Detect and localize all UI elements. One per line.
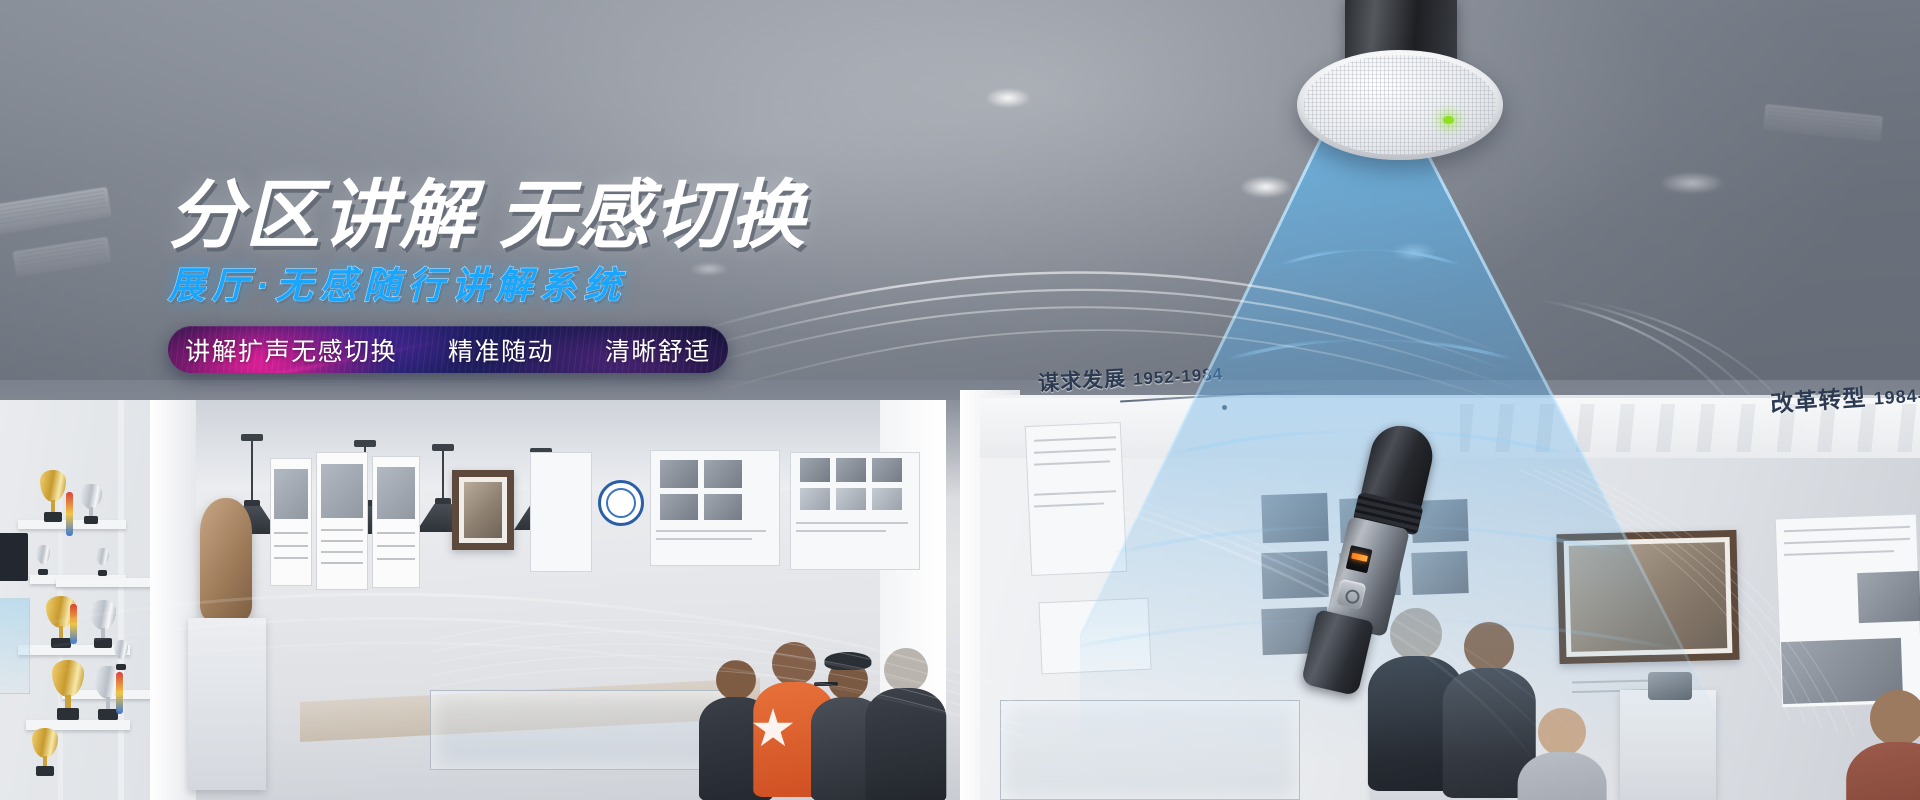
mic-battery-tail xyxy=(1301,609,1375,696)
recessed-light xyxy=(1660,172,1724,194)
promo-banner: 谋求发展 1952-1984 改革转型 1984-2010 xyxy=(0,0,1920,800)
banner-title: 分区讲解 无感切换 xyxy=(168,178,928,253)
history-text-panel xyxy=(1038,598,1151,675)
trophy xyxy=(80,484,102,524)
trophy xyxy=(52,660,84,720)
exhibit-photo xyxy=(660,460,698,488)
trophy xyxy=(32,728,58,776)
feature-list: 讲解扩声无感切换 精准随动 清晰舒适 xyxy=(168,332,728,368)
recessed-light xyxy=(985,88,1031,108)
exhibit-photo xyxy=(872,458,902,482)
exhibit-photo xyxy=(660,494,698,520)
feature-item-3: 清晰舒适 xyxy=(605,332,711,368)
recessed-light xyxy=(1392,243,1436,261)
figurine xyxy=(96,548,109,576)
panel-text-line xyxy=(656,538,752,540)
visitor xyxy=(1870,690,1920,746)
exhibit-photo xyxy=(800,488,830,510)
wall-heading-2-name: 改革转型 xyxy=(1769,384,1867,417)
school-emblem xyxy=(598,480,644,526)
exhibit-poster xyxy=(316,452,368,590)
display-pedestal xyxy=(188,618,266,790)
panel-text-line xyxy=(656,530,766,532)
recessed-light xyxy=(1240,176,1292,198)
wall-heading-2-years: 1984-2010 xyxy=(1873,382,1920,409)
speaker-grille-rim xyxy=(1297,50,1503,160)
display-pedestal xyxy=(1620,690,1716,800)
speaker-status-led xyxy=(1443,116,1454,124)
exhibit-panel xyxy=(530,452,592,572)
display-glass-case xyxy=(1000,700,1300,800)
trophy xyxy=(40,470,66,522)
wall-monitor xyxy=(0,533,28,581)
panel-text-line xyxy=(796,530,886,532)
speaker-mesh-grille xyxy=(1304,55,1496,155)
feature-item-1: 讲解扩声无感切换 xyxy=(185,332,397,368)
cabinet-divider xyxy=(118,400,124,800)
exhibit-photo xyxy=(836,458,866,482)
visitor xyxy=(1464,622,1514,672)
glass-railing xyxy=(0,598,30,694)
exhibit-machine xyxy=(1648,672,1692,700)
trophy-ribbon xyxy=(70,604,77,644)
exhibit-poster xyxy=(270,458,312,586)
visitor xyxy=(828,660,868,700)
wall-heading-1-dot xyxy=(1222,405,1227,410)
visitor xyxy=(1538,708,1586,756)
trophy xyxy=(90,600,116,648)
wall-heading-1-name: 谋求发展 xyxy=(1038,367,1127,395)
framed-painting xyxy=(1556,530,1739,664)
exhibit-photo xyxy=(836,488,866,510)
trophy-ribbon xyxy=(116,672,123,714)
visitor xyxy=(716,660,756,700)
banner-subtitle: 展厅·无感随行讲解系统 xyxy=(168,267,928,304)
trophy-ribbon xyxy=(66,492,73,536)
visitor xyxy=(772,642,816,686)
display-glass-case xyxy=(430,690,730,770)
headline-block: 分区讲解 无感切换 展厅·无感随行讲解系统 讲解扩声无感切换 精准随动 清晰舒适 xyxy=(168,178,928,373)
wall-heading-1-years: 1952-1984 xyxy=(1132,365,1223,389)
history-photo xyxy=(1857,571,1920,623)
exhibit-photo xyxy=(800,458,830,482)
exhibit-photo xyxy=(872,488,902,510)
history-text-panel xyxy=(1025,422,1127,576)
framed-portrait xyxy=(452,470,514,550)
history-photo xyxy=(1261,493,1329,543)
exhibit-photo xyxy=(704,460,742,488)
figurine xyxy=(114,640,128,670)
panel-text-line xyxy=(796,522,908,524)
feature-item-2: 精准随动 xyxy=(448,332,554,368)
exhibit-poster xyxy=(372,456,420,588)
terracotta-statue xyxy=(200,498,252,620)
exhibit-photo xyxy=(704,494,742,520)
visitor xyxy=(884,648,928,692)
figurine xyxy=(36,545,50,575)
feature-pill: 讲解扩声无感切换 精准随动 清晰舒适 xyxy=(168,326,728,373)
ceiling-speaker xyxy=(1297,0,1503,166)
